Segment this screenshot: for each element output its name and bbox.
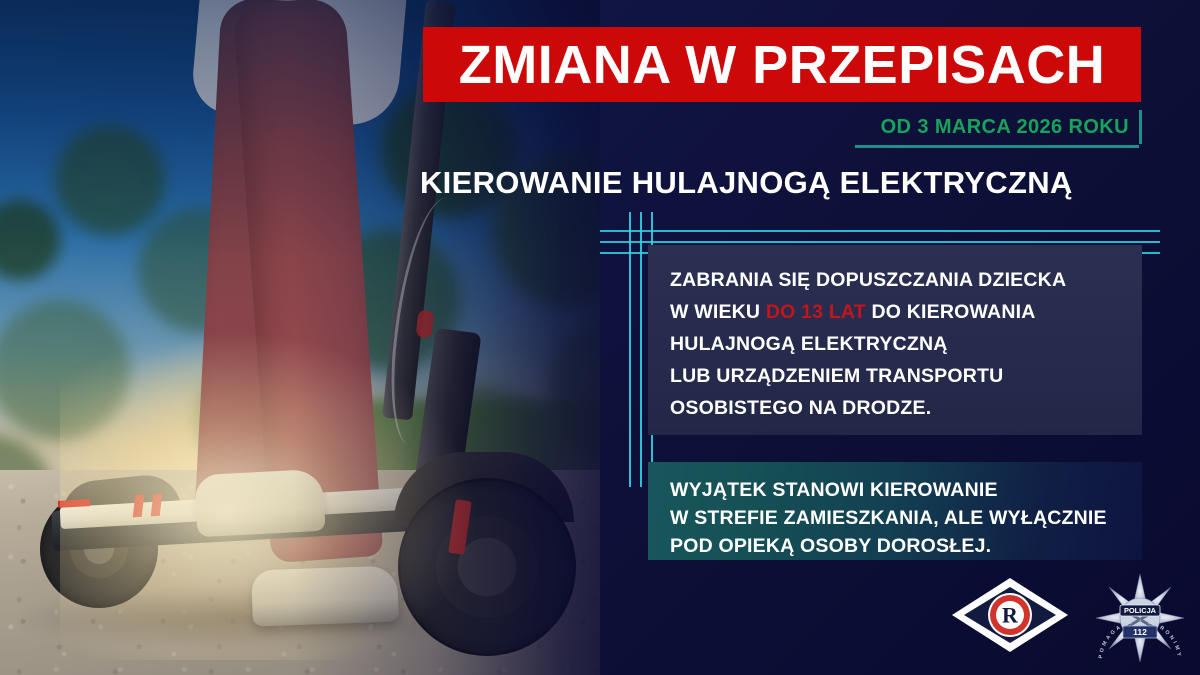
logo-group: R	[950, 568, 1185, 668]
effective-date-text: OD 3 MARCA 2026 ROKU	[881, 116, 1139, 139]
headline-banner: ZMIANA W PRZEPISACH	[423, 27, 1141, 102]
main-rule-line-1: ZABRANIA SIĘ DOPUSZCZANIA DZIECKA	[670, 265, 1142, 295]
main-rule-line-3: HULAJNOGĄ ELEKTRYCZNĄ	[670, 329, 1142, 359]
exception-line-1: WYJĄTEK STANOWI KIEROWANIE	[670, 477, 1142, 503]
headline-title: ZMIANA W PRZEPISACH	[459, 38, 1105, 92]
main-rule-panel: ZABRANIA SIĘ DOPUSZCZANIA DZIECKA W WIEK…	[648, 245, 1142, 435]
traffic-police-diamond-icon: R	[950, 576, 1070, 654]
svg-text:112: 112	[1133, 627, 1147, 637]
main-rule-line-2-post: DO KIEROWANIA	[866, 301, 1036, 323]
police-badge-icon: POLICJA 112 POMAGAMY I CHRONIMY	[1095, 568, 1185, 666]
exception-panel: WYJĄTEK STANOWI KIEROWANIE W STREFIE ZAM…	[648, 462, 1142, 560]
main-rule-line-1-text: ZABRANIA SIĘ DOPUSZCZANIA DZIECKA	[670, 269, 1066, 291]
effective-date-block: OD 3 MARCA 2026 ROKU	[780, 110, 1142, 144]
main-rule-line-3-text: HULAJNOGĄ ELEKTRYCZNĄ	[670, 333, 948, 355]
exception-line-3: POD OPIEKĄ OSOBY DOROSŁEJ.	[670, 533, 1142, 559]
main-rule-line-5-text: OSOBISTEGO NA DRODZE.	[670, 397, 931, 419]
main-rule-line-4-text: LUB URZĄDZENIEM TRANSPORTU	[670, 365, 1003, 387]
main-rule-line-2: W WIEKU DO 13 LAT DO KIEROWANIA	[670, 297, 1142, 327]
svg-text:R: R	[1002, 603, 1019, 628]
exception-line-2: W STREFIE ZAMIESZKANIA, ALE WYŁĄCZNIE	[670, 505, 1142, 531]
svg-text:POLICJA: POLICJA	[1124, 606, 1157, 615]
main-rule-line-5: OSOBISTEGO NA DRODZE.	[670, 393, 1142, 423]
age-limit-highlight: DO 13 LAT	[766, 301, 866, 323]
main-rule-line-4: LUB URZĄDZENIEM TRANSPORTU	[670, 361, 1142, 391]
poster-canvas: ZMIANA W PRZEPISACH OD 3 MARCA 2026 ROKU…	[0, 0, 1200, 675]
page-subtitle: KIEROWANIE HULAJNOGĄ ELEKTRYCZNĄ	[420, 160, 1165, 206]
main-rule-line-2-pre: W WIEKU	[670, 301, 766, 323]
